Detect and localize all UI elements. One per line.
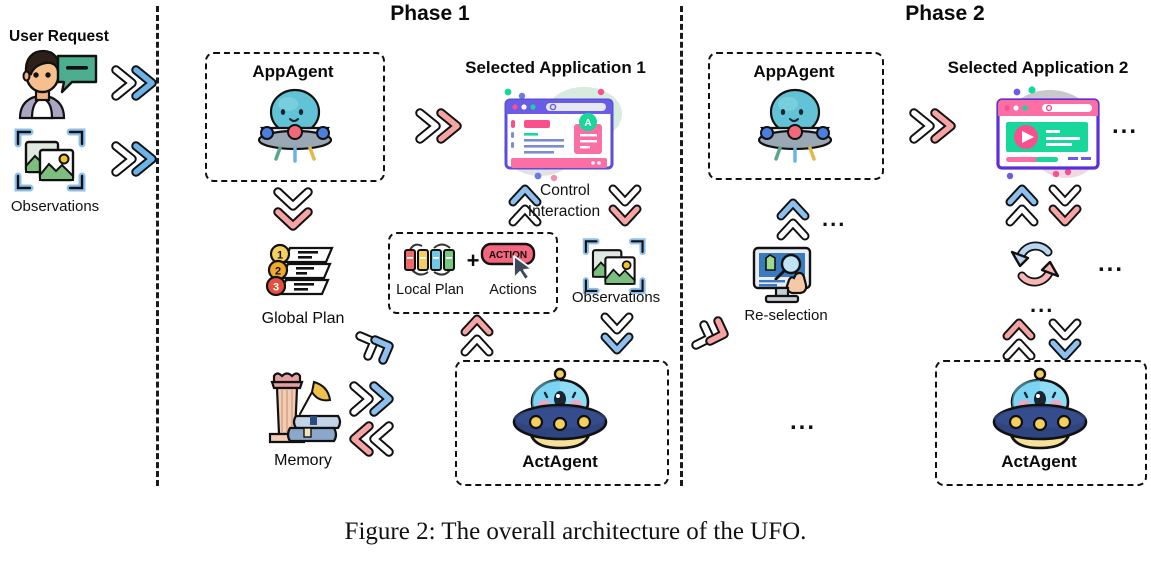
video-player-window-icon	[970, 78, 1108, 186]
phase1-actagent-label: ActAgent	[455, 452, 665, 472]
observations-input-label: Observations	[0, 198, 110, 215]
phase2-arrow-interaction-down	[1048, 182, 1082, 230]
input-arrow-user-request	[112, 62, 164, 104]
phase1-arrow-to-selected-app	[414, 104, 472, 148]
selected-application-1-label: Selected Application 1	[443, 58, 668, 78]
phase1-arrow-globalplan-to-localplan	[352, 322, 404, 374]
memory-label: Memory	[243, 452, 363, 470]
divider-right	[680, 6, 683, 486]
action-button-cursor-icon: ACTION	[480, 240, 542, 280]
observations-icon-input	[14, 126, 90, 196]
phase2-arrow-reselection-to-appagent	[776, 196, 810, 244]
re-selection-label: Re-selection	[726, 307, 846, 324]
svg-text:A: A	[584, 118, 591, 129]
ufo-actagent-icon-phase1	[508, 366, 612, 456]
ufo-actagent-icon-phase2	[988, 366, 1092, 456]
control-interaction-line2: Interaction	[504, 203, 624, 221]
phase2-arrow-control-up	[1005, 182, 1039, 230]
phase2-actagent-label: ActAgent	[935, 452, 1143, 472]
ufo-appagent-icon	[250, 84, 340, 166]
phase1-arrow-actagent-to-localplan	[460, 312, 494, 360]
svg-text:3: 3	[273, 282, 279, 294]
column-books-quill-icon	[258, 368, 346, 450]
control-interaction-line1: Control	[520, 182, 610, 200]
svg-text:2: 2	[275, 266, 281, 278]
phase1-arrow-interaction-down	[608, 182, 642, 230]
phase2-ellipsis-refresh: ...	[1098, 250, 1124, 278]
phase2-arrow-actagent-down	[1048, 316, 1082, 364]
cyclic-plan-icon	[400, 238, 460, 280]
numbered-list-icon: 1 2 3	[266, 244, 340, 304]
monitor-search-hand-icon	[748, 244, 822, 306]
local-plan-label: Local Plan	[389, 282, 471, 298]
actions-label: Actions	[476, 282, 550, 298]
svg-text:1: 1	[277, 250, 283, 262]
phase2-appagent-label: AppAgent	[708, 62, 880, 82]
phase1-arrow-memory-right	[348, 378, 404, 420]
phase2-arrow-actagent-up	[1002, 316, 1036, 364]
phase1-arrow-memory-left	[348, 418, 404, 460]
svg-text:ACTION: ACTION	[489, 250, 527, 261]
phase1-arrow-observations-to-actagent	[600, 310, 634, 358]
ufo-appagent-icon-phase2	[750, 84, 840, 166]
user-with-speech-bubble-icon	[8, 48, 100, 120]
phase2-ellipsis-appagent: ...	[822, 206, 846, 232]
phase1-appagent-label: AppAgent	[205, 62, 381, 82]
phase-2-title: Phase 2	[845, 2, 1045, 26]
user-request-label: User Request	[0, 28, 118, 46]
figure-caption: Figure 2: The overall architecture of th…	[0, 518, 1151, 546]
phase2-ellipsis-app: ...	[1112, 112, 1138, 140]
phase1-arrow-appagent-to-globalplan	[272, 186, 314, 238]
browser-window-icon: A	[488, 80, 626, 184]
circular-refresh-arrows-icon	[1006, 238, 1064, 290]
phase2-arrow-to-selected-app	[908, 104, 966, 148]
phase2-ellipsis-below-refresh: ...	[1030, 292, 1054, 318]
input-arrow-observations	[112, 138, 164, 180]
phase-1-title: Phase 1	[330, 2, 530, 26]
observations-phase1-label: Observations	[560, 289, 672, 306]
selected-application-2-label: Selected Application 2	[925, 58, 1151, 78]
phase2-ellipsis-center: ...	[790, 408, 816, 436]
